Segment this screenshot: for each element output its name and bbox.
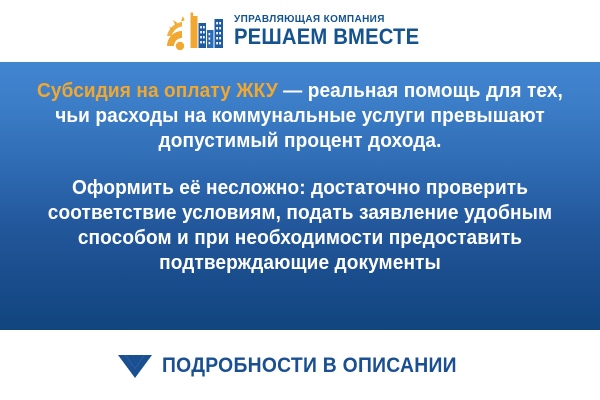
footer-bar: ПОДРОБНОСТИ В ОПИСАНИИ xyxy=(0,330,600,400)
logo-name: РЕШАЕМ ВМЕСТЕ xyxy=(234,26,419,48)
company-logo: УПРАВЛЯЮЩАЯ КОМПАНИЯ РЕШАЕМ ВМЕСТЕ xyxy=(165,10,435,52)
logo-tagline: УПРАВЛЯЮЩАЯ КОМПАНИЯ xyxy=(234,14,425,25)
paragraph-one-line-3: допустимый процент дохода. xyxy=(28,128,571,153)
poster-root: УПРАВЛЯЮЩАЯ КОМПАНИЯ РЕШАЕМ ВМЕСТЕ Субси… xyxy=(0,0,600,400)
paragraph-two-line-4: подтверждающие документы xyxy=(28,250,571,275)
em-dash-glyph: — xyxy=(283,79,302,102)
header-bar: УПРАВЛЯЮЩАЯ КОМПАНИЯ РЕШАЕМ ВМЕСТЕ xyxy=(0,0,600,62)
paragraph-one: Субсидия на оплату ЖКУ — реальная помощь… xyxy=(0,78,600,153)
paragraph-two-line-3: способом и при необходимости предоставит… xyxy=(28,225,571,250)
paragraph-one-line-1-rest: реальная помощь для тех, xyxy=(308,79,563,102)
main-blue-panel: Субсидия на оплату ЖКУ — реальная помощь… xyxy=(0,62,600,330)
paragraph-two-line-1: Оформить её несложно: достаточно провери… xyxy=(28,175,571,200)
company-logo-buildings-gear-icon xyxy=(165,10,227,52)
paragraph-two: Оформить её несложно: достаточно провери… xyxy=(0,175,600,275)
chevron-down-icon xyxy=(117,353,153,379)
paragraph-two-line-2: соответствие условиям, подать заявление … xyxy=(28,200,571,225)
footer-label: ПОДРОБНОСТИ В ОПИСАНИИ xyxy=(162,354,457,378)
highlight-phrase: Субсидия на оплату ЖКУ xyxy=(37,79,278,102)
paragraph-one-line-2: чьи расходы на коммунальные услуги превы… xyxy=(28,103,571,128)
paragraph-one-line-1: Субсидия на оплату ЖКУ — реальная помощь… xyxy=(28,78,571,103)
company-logo-wordmark: УПРАВЛЯЮЩАЯ КОМПАНИЯ РЕШАЕМ ВМЕСТЕ xyxy=(234,14,435,49)
